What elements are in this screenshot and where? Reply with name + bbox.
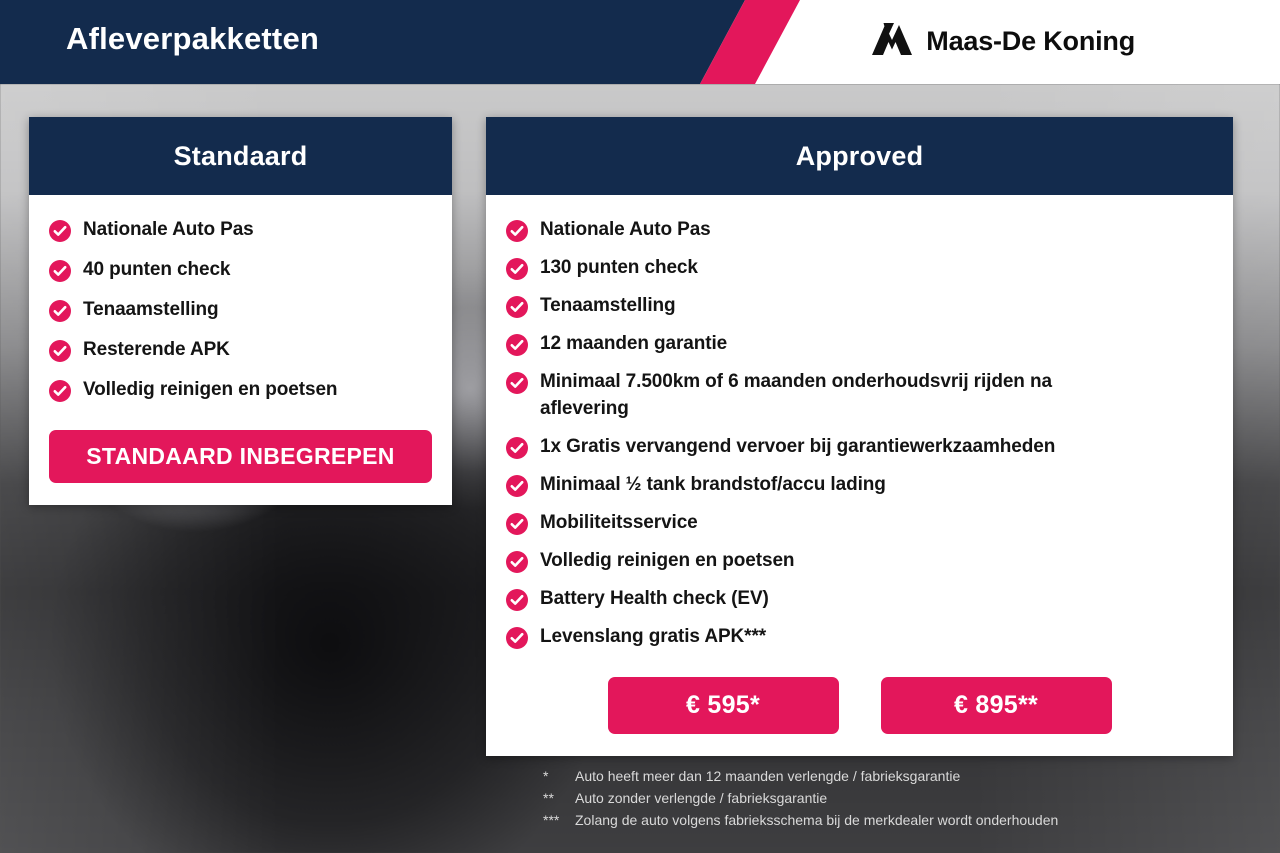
- feature-label: 1x Gratis vervangend vervoer bij garanti…: [540, 434, 1055, 461]
- feature-label: Levenslang gratis APK***: [540, 624, 766, 651]
- list-item: Resterende APK: [49, 337, 432, 364]
- card-body-approved: Nationale Auto Pas 130 punten check: [486, 195, 1233, 756]
- list-item: Levenslang gratis APK***: [506, 624, 1213, 651]
- page-title: Afleverpakketten: [66, 21, 319, 57]
- list-item: Minimaal 7.500km of 6 maanden onderhouds…: [506, 369, 1213, 423]
- check-circle-icon: [506, 334, 528, 356]
- standaard-inbegrepen-button[interactable]: STANDAARD INBEGREPEN: [49, 430, 432, 483]
- feature-label: Battery Health check (EV): [540, 586, 769, 613]
- check-circle-icon: [506, 513, 528, 535]
- list-item: Tenaamstelling: [506, 293, 1213, 320]
- footnote-marker: **: [543, 788, 575, 810]
- check-circle-icon: [506, 627, 528, 649]
- price-button-row: € 595* € 895**: [506, 677, 1213, 734]
- card-title-standaard: Standaard: [174, 141, 308, 172]
- list-item: 40 punten check: [49, 257, 432, 284]
- package-card-approved: Approved Nationale Auto Pas: [486, 117, 1233, 756]
- feature-label: 130 punten check: [540, 255, 698, 282]
- check-circle-icon: [506, 258, 528, 280]
- package-card-standaard: Standaard Nationale Auto Pas: [29, 117, 452, 505]
- poster-page: Afleverpakketten Maas-De Koning Standaar…: [0, 0, 1280, 853]
- feature-list-approved: Nationale Auto Pas 130 punten check: [506, 217, 1213, 651]
- footnote-double-asterisk: ** Auto zonder verlengde / fabrieksgaran…: [543, 788, 1243, 810]
- check-circle-icon: [506, 437, 528, 459]
- feature-label: Minimaal 7.500km of 6 maanden onderhouds…: [540, 369, 1125, 423]
- brand-name: Maas-De Koning: [926, 26, 1135, 57]
- feature-label: Minimaal ½ tank brandstof/accu lading: [540, 472, 886, 499]
- feature-list-standaard: Nationale Auto Pas 40 punten check: [49, 217, 432, 404]
- feature-label: Tenaamstelling: [540, 293, 676, 320]
- footnote-text: Zolang de auto volgens fabrieksschema bi…: [575, 810, 1058, 832]
- check-circle-icon: [506, 589, 528, 611]
- list-item: Tenaamstelling: [49, 297, 432, 324]
- check-circle-icon: [506, 220, 528, 242]
- feature-label: Mobiliteitsservice: [540, 510, 698, 537]
- maas-de-koning-m-logo-icon: [870, 22, 914, 61]
- feature-label: Nationale Auto Pas: [540, 217, 711, 244]
- check-circle-icon: [506, 296, 528, 318]
- feature-label: Resterende APK: [83, 337, 230, 364]
- check-circle-icon: [506, 372, 528, 394]
- list-item: Mobiliteitsservice: [506, 510, 1213, 537]
- list-item: Nationale Auto Pas: [506, 217, 1213, 244]
- footnote-text: Auto zonder verlengde / fabrieksgarantie: [575, 788, 827, 810]
- card-title-approved: Approved: [796, 141, 924, 172]
- footnote-text: Auto heeft meer dan 12 maanden verlengde…: [575, 766, 960, 788]
- top-banner: Afleverpakketten Maas-De Koning: [0, 0, 1280, 84]
- list-item: Nationale Auto Pas: [49, 217, 432, 244]
- card-header-standaard: Standaard: [29, 117, 452, 195]
- list-item: Battery Health check (EV): [506, 586, 1213, 613]
- check-circle-icon: [506, 551, 528, 573]
- feature-label: 40 punten check: [83, 257, 230, 284]
- footnote-triple-asterisk: *** Zolang de auto volgens fabrieksschem…: [543, 810, 1243, 832]
- feature-label: Volledig reinigen en poetsen: [540, 548, 794, 575]
- price-button-595[interactable]: € 595*: [608, 677, 839, 734]
- price-button-895[interactable]: € 895**: [881, 677, 1112, 734]
- list-item: 1x Gratis vervangend vervoer bij garanti…: [506, 434, 1213, 461]
- list-item: 12 maanden garantie: [506, 331, 1213, 358]
- feature-label: Nationale Auto Pas: [83, 217, 254, 244]
- brand-lockup: Maas-De Koning: [870, 22, 1135, 61]
- footnotes: * Auto heeft meer dan 12 maanden verleng…: [543, 766, 1243, 832]
- feature-label: 12 maanden garantie: [540, 331, 727, 358]
- list-item: Minimaal ½ tank brandstof/accu lading: [506, 472, 1213, 499]
- check-circle-icon: [506, 475, 528, 497]
- list-item: Volledig reinigen en poetsen: [49, 377, 432, 404]
- check-circle-icon: [49, 380, 71, 402]
- check-circle-icon: [49, 220, 71, 242]
- check-circle-icon: [49, 300, 71, 322]
- list-item: Volledig reinigen en poetsen: [506, 548, 1213, 575]
- feature-label: Tenaamstelling: [83, 297, 219, 324]
- footnote-single-asterisk: * Auto heeft meer dan 12 maanden verleng…: [543, 766, 1243, 788]
- footnote-marker: ***: [543, 810, 575, 832]
- list-item: 130 punten check: [506, 255, 1213, 282]
- footnote-marker: *: [543, 766, 575, 788]
- check-circle-icon: [49, 340, 71, 362]
- card-body-standaard: Nationale Auto Pas 40 punten check: [29, 195, 452, 505]
- check-circle-icon: [49, 260, 71, 282]
- card-header-approved: Approved: [486, 117, 1233, 195]
- feature-label: Volledig reinigen en poetsen: [83, 377, 337, 404]
